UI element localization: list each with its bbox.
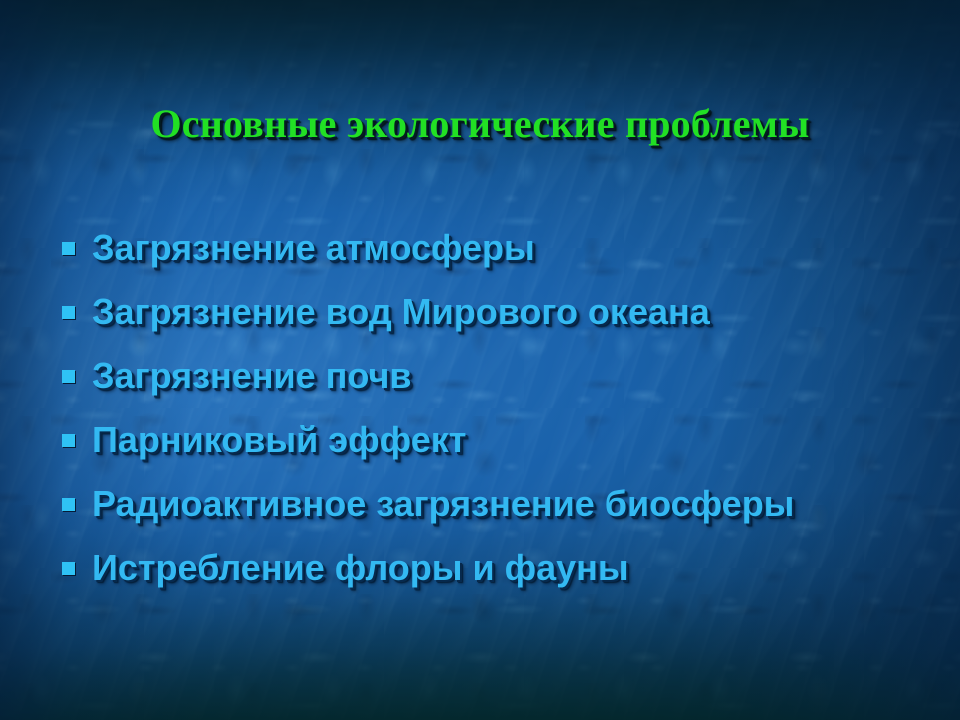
list-item: Радиоактивное загрязнение биосферы (0, 472, 960, 536)
list-item: Загрязнение почв (0, 344, 960, 408)
list-item: Загрязнение атмосферы (0, 216, 960, 280)
filled-square-bullet-icon (62, 242, 75, 255)
filled-square-bullet-icon (62, 306, 75, 319)
list-item: Загрязнение вод Мирового океана (0, 280, 960, 344)
list-item-label: Загрязнение почв (92, 355, 412, 397)
filled-square-bullet-icon (62, 562, 75, 575)
slide-content: Основные экологические проблемы Загрязне… (0, 0, 960, 720)
list-item-label: Истребление флоры и фауны (92, 547, 629, 589)
list-item-label: Загрязнение вод Мирового океана (92, 291, 710, 333)
list-item-label: Загрязнение атмосферы (92, 227, 535, 269)
filled-square-bullet-icon (62, 498, 75, 511)
list-item-label: Радиоактивное загрязнение биосферы (92, 483, 794, 525)
list-item: Парниковый эффект (0, 408, 960, 472)
list-item: Истребление флоры и фауны (0, 536, 960, 600)
bullet-list: Загрязнение атмосферы Загрязнение вод Ми… (0, 216, 960, 600)
list-item-label: Парниковый эффект (92, 419, 466, 461)
presentation-slide: Основные экологические проблемы Загрязне… (0, 0, 960, 720)
filled-square-bullet-icon (62, 370, 75, 383)
filled-square-bullet-icon (62, 434, 75, 447)
slide-title: Основные экологические проблемы (0, 101, 960, 147)
